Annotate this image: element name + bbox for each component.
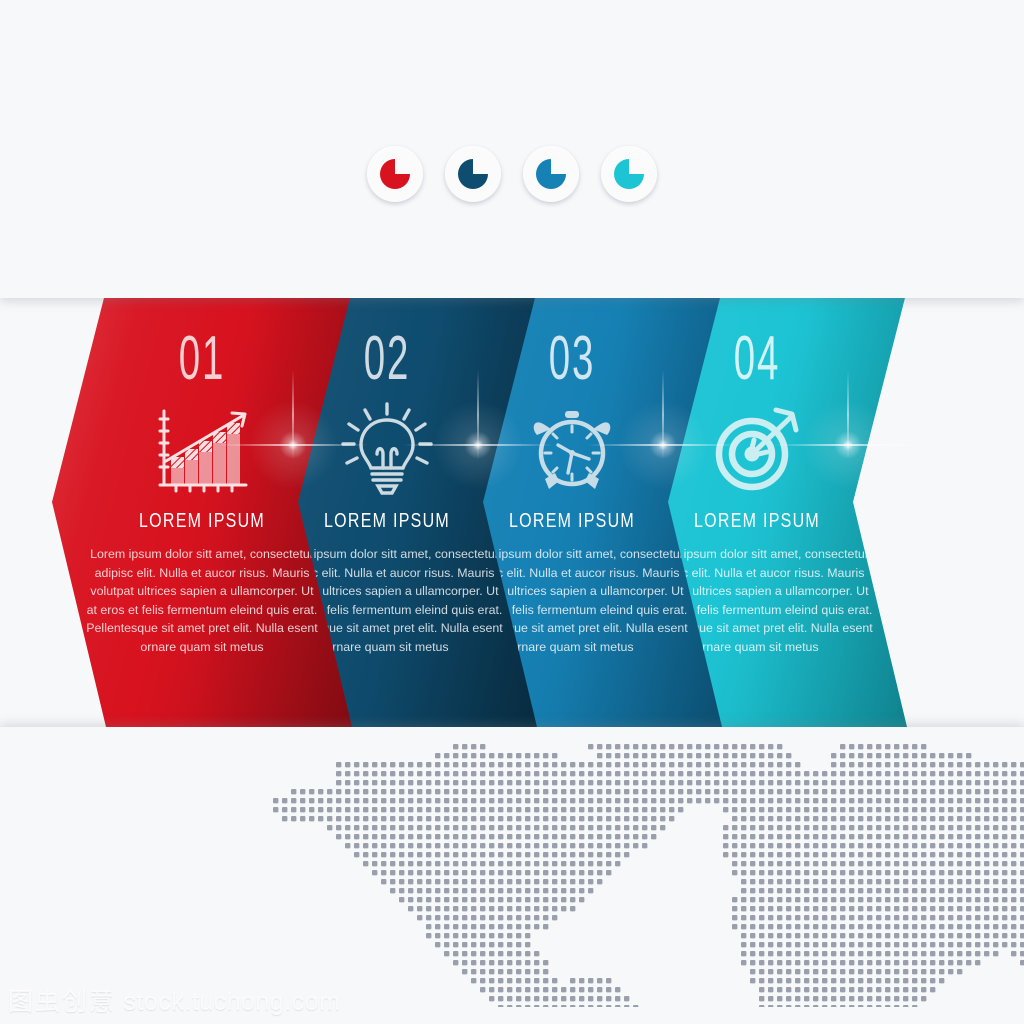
watermark-cn: 图虫创意 bbox=[8, 988, 116, 1016]
pie-indicator-row bbox=[0, 146, 1024, 202]
infographic-stage: 01 bbox=[0, 0, 1024, 1024]
panel-01-body: Lorem ipsum dolor sitt amet, consectetur… bbox=[52, 545, 352, 657]
watermark-site: stock.tuchong.com bbox=[123, 988, 340, 1016]
pie-indicator-4[interactable] bbox=[601, 146, 657, 202]
dotted-world-map bbox=[0, 742, 1024, 1007]
panel-01-heading: LOREM IPSUM bbox=[82, 510, 322, 533]
pie-indicator-3[interactable] bbox=[523, 146, 579, 202]
pie-indicator-2[interactable] bbox=[445, 146, 501, 202]
arrow-panels-row: 01 bbox=[0, 290, 1024, 740]
panel-01-number: 01 bbox=[109, 328, 295, 390]
pie-indicator-1[interactable] bbox=[367, 146, 423, 202]
watermark: 图虫创意 stock.tuchong.com bbox=[8, 982, 340, 1018]
